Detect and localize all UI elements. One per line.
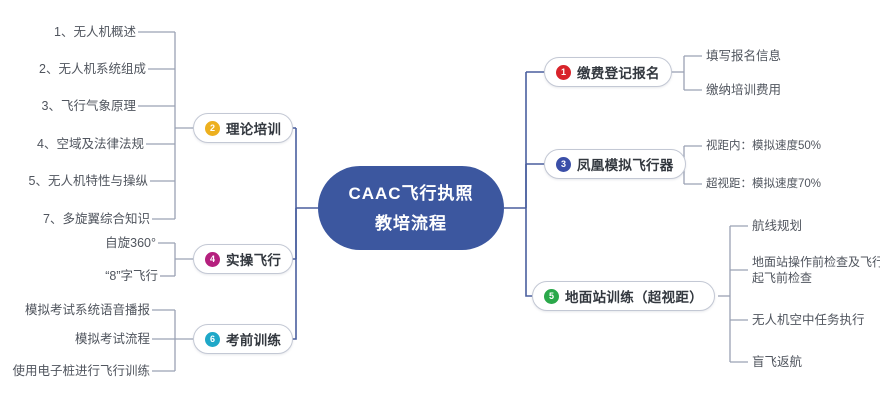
leaf-practical-2: “8”字飞行 (0, 268, 158, 285)
center-node[interactable]: CAAC飞行执照 教培流程 (318, 166, 504, 250)
branch-node-phoenix-simulator[interactable]: 3 凤凰模拟飞行器 (544, 149, 686, 179)
branch-label-ground-station-training: 地面站训练（超视距） (565, 286, 703, 306)
leaf-theory-2: 2、无人机系统组成 (0, 61, 146, 78)
leaf-payment-1: 填写报名信息 (706, 48, 781, 65)
leaf-simulator-2: 超视距：模拟速度70% (706, 177, 821, 193)
center-node-line1: CAAC飞行执照 (348, 185, 473, 202)
branch-node-pre-exam-training[interactable]: 6 考前训练 (193, 324, 293, 354)
branch-label-practical-flight: 实操飞行 (226, 249, 281, 269)
branch-label-phoenix-simulator: 凤凰模拟飞行器 (577, 154, 674, 174)
leaf-payment-2: 缴纳培训费用 (706, 82, 781, 99)
leaf-theory-4: 4、空域及法律法规 (0, 136, 144, 153)
branch-node-theory-training[interactable]: 2 理论培训 (193, 113, 293, 143)
leaf-ground-4: 盲飞返航 (752, 354, 802, 371)
leaf-simulator-1: 视距内：模拟速度50% (706, 139, 821, 155)
center-node-line2: 教培流程 (375, 215, 447, 232)
branch-badge-1: 1 (556, 65, 571, 80)
branch-node-payment-registration[interactable]: 1 缴费登记报名 (544, 57, 672, 87)
leaf-theory-5: 5、无人机特性与操纵 (0, 173, 148, 190)
leaf-theory-7: 7、多旋翼综合知识 (0, 211, 150, 228)
branch-label-theory-training: 理论培训 (226, 118, 281, 138)
branch-badge-6: 6 (205, 332, 220, 347)
branch-badge-2: 2 (205, 121, 220, 136)
leaf-ground-1: 航线规划 (752, 218, 802, 235)
leaf-preexam-3: 使用电子桩进行飞行训练 (0, 363, 150, 380)
branch-badge-4: 4 (205, 252, 220, 267)
branch-badge-3: 3 (556, 157, 571, 172)
branch-node-ground-station-training[interactable]: 5 地面站训练（超视距） (532, 281, 715, 311)
branch-badge-5: 5 (544, 289, 559, 304)
leaf-ground-3: 无人机空中任务执行 (752, 312, 865, 329)
branch-label-payment-registration: 缴费登记报名 (577, 62, 660, 82)
branch-node-practical-flight[interactable]: 4 实操飞行 (193, 244, 293, 274)
leaf-preexam-2: 模拟考试流程 (0, 331, 150, 348)
leaf-theory-1: 1、无人机概述 (0, 24, 136, 41)
leaf-preexam-1: 模拟考试系统语音播报 (0, 302, 150, 319)
branch-label-pre-exam-training: 考前训练 (226, 329, 281, 349)
leaf-ground-2: 地面站操作前检查及飞行器起飞前检查 (752, 254, 880, 286)
leaf-theory-3: 3、飞行气象原理 (0, 98, 136, 115)
mindmap-canvas: CAAC飞行执照 教培流程 2 理论培训 4 实操飞行 6 考前训练 1 缴费登… (0, 0, 880, 413)
leaf-practical-1: 自旋360° (0, 235, 156, 252)
